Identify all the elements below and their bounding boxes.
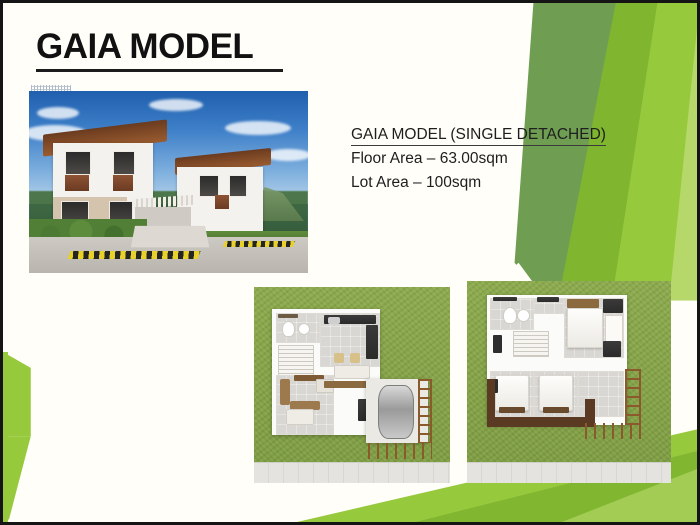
- photo-window: [65, 151, 91, 175]
- plan-pavement: [467, 462, 671, 483]
- photo-wood-panel: [113, 175, 133, 191]
- second-floor-plan: [467, 281, 671, 483]
- plan-tv-unit: [603, 341, 621, 357]
- plan-bed: [495, 375, 529, 411]
- plan-dresser: [605, 315, 623, 343]
- photo-window: [199, 175, 219, 197]
- presentation-slide: GAIA MODEL: [0, 0, 700, 525]
- plan-front-fence: [585, 423, 641, 439]
- plan-dining-table: [334, 365, 370, 379]
- lot-area-text: Lot Area – 100sqm: [351, 172, 641, 194]
- plan-counter: [493, 297, 517, 301]
- band-pale-sliver: [669, 29, 697, 301]
- model-info-heading: GAIA MODEL (SINGLE DETACHED): [351, 125, 606, 146]
- plan-sideboard: [324, 381, 368, 388]
- left-green-stripe: [3, 352, 8, 522]
- photo-wood-panel: [65, 175, 89, 191]
- plan-bed-bench: [543, 407, 569, 413]
- sink-fixture-icon: [517, 309, 530, 322]
- photo-curb-marking: [67, 251, 200, 259]
- left-green-wedge: [3, 352, 31, 436]
- plan-staircase: [278, 345, 314, 377]
- plan-coffee-table: [286, 409, 314, 425]
- plan-sofa: [280, 379, 290, 405]
- photo-window: [229, 175, 247, 197]
- plan-front-fence: [368, 443, 432, 459]
- photo-driveway: [131, 226, 209, 248]
- model-info-block: GAIA MODEL (SINGLE DETACHED) Floor Area …: [351, 125, 641, 194]
- sink-fixture-icon: [298, 323, 310, 335]
- photo-cloud: [225, 121, 291, 135]
- plan-wardrobe: [603, 299, 623, 313]
- page-title: GAIA MODEL: [36, 29, 336, 66]
- plan-facade-wall: [487, 417, 595, 427]
- photo-wood-panel: [215, 195, 229, 209]
- photo-cloud: [149, 99, 203, 111]
- plan-counter: [278, 314, 298, 318]
- slide-canvas: GAIA MODEL: [3, 3, 697, 522]
- gaia-model-exterior-photo: [29, 91, 308, 273]
- plan-pavement: [254, 462, 450, 483]
- title-block: GAIA MODEL: [36, 29, 336, 72]
- floor-area-text: Floor Area – 63.00sqm: [351, 148, 641, 170]
- plan-side-fence: [418, 379, 432, 443]
- title-underline: [36, 69, 283, 72]
- plan-wall-art: [493, 335, 502, 353]
- photo-curb-marking: [223, 241, 295, 247]
- plan-bed: [539, 375, 573, 411]
- plan-headboard-shelf: [567, 299, 599, 308]
- photo-cloud: [37, 107, 79, 119]
- plan-dining-chair: [334, 353, 344, 363]
- plan-cabinet: [537, 297, 559, 302]
- photo-cloud: [265, 149, 308, 161]
- ground-floor-plan: [254, 287, 450, 483]
- kitchen-sink-icon: [328, 317, 340, 324]
- left-green-thin-taper: [3, 436, 31, 519]
- toilet-fixture-icon: [282, 321, 295, 337]
- plan-side-fence: [625, 369, 641, 425]
- kitchen-cabinet: [366, 325, 378, 359]
- toilet-fixture-icon: [503, 307, 517, 324]
- plan-bed: [567, 308, 603, 348]
- plan-dining-chair: [350, 353, 360, 363]
- photo-window: [113, 151, 135, 175]
- plan-bed-bench: [499, 407, 525, 413]
- plan-car: [378, 385, 414, 439]
